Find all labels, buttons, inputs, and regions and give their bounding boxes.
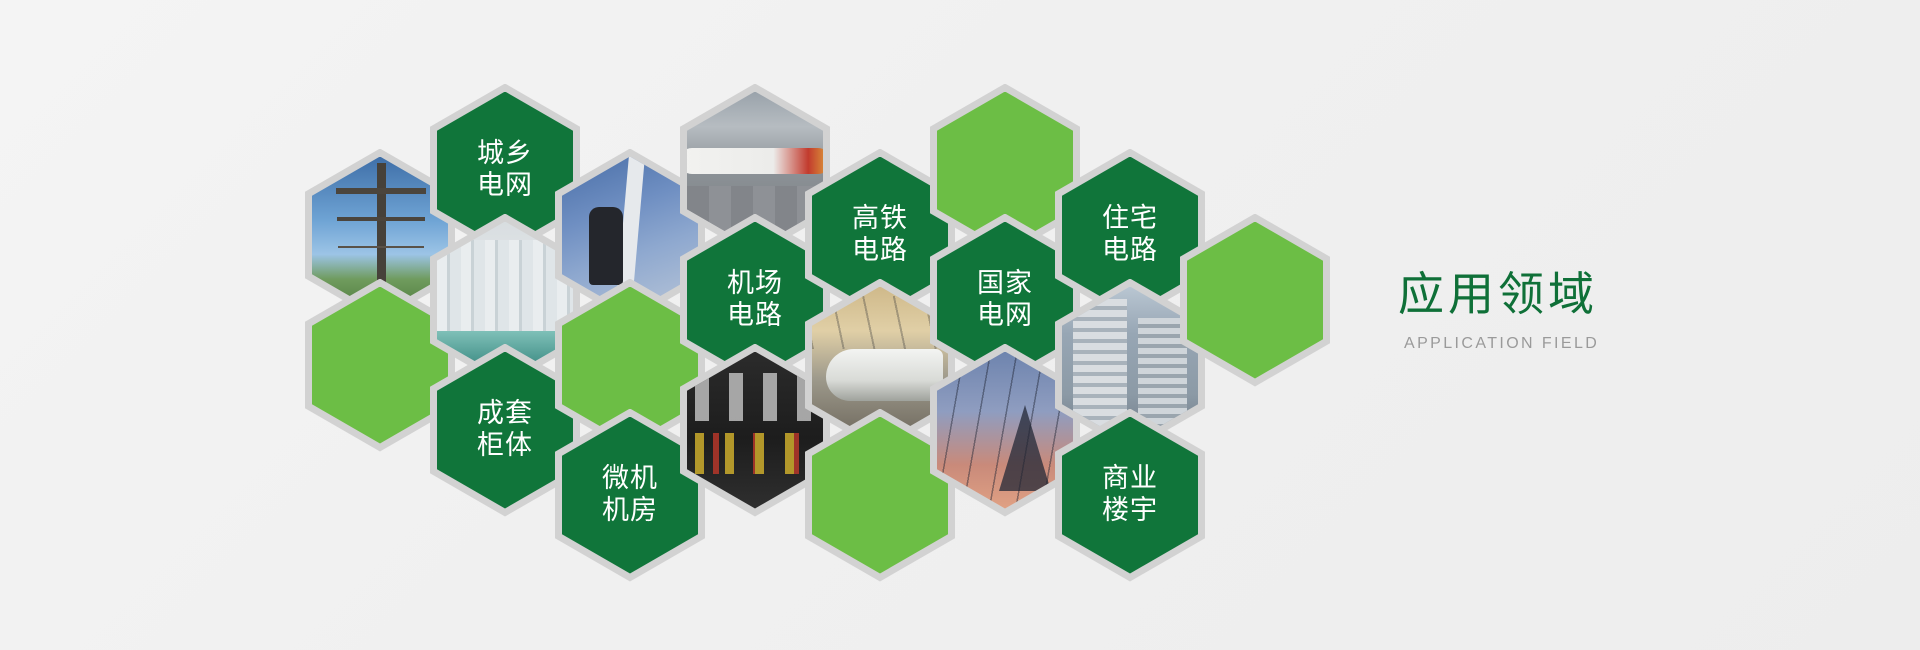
hexagon-label: 成套 柜体 [477,398,533,462]
application-field-banner: 城乡 电网 成套 柜体 [0,0,1920,650]
hexagon-label: 商业 楼宇 [1102,463,1158,527]
hexagon-label: 机场 电路 [727,268,783,332]
page-subtitle: APPLICATION FIELD [1404,335,1858,353]
hexagon-label: 微机 机房 [602,463,658,527]
hexagon-label: 城乡 电网 [477,138,533,202]
hexagon-label: 国家 电网 [977,268,1033,332]
page-title: 应用领域 [1398,268,1858,321]
hexagon-cluster: 城乡 电网 成套 柜体 [0,0,1350,650]
hexagon-label: 住宅 电路 [1102,203,1158,267]
heading-block: 应用领域 APPLICATION FIELD [1398,268,1858,353]
hexagon-accent-right[interactable] [1180,214,1330,387]
hexagon-label: 高铁 电路 [852,203,908,267]
hexagon-commercial-building[interactable]: 商业 楼宇 [1055,409,1205,582]
